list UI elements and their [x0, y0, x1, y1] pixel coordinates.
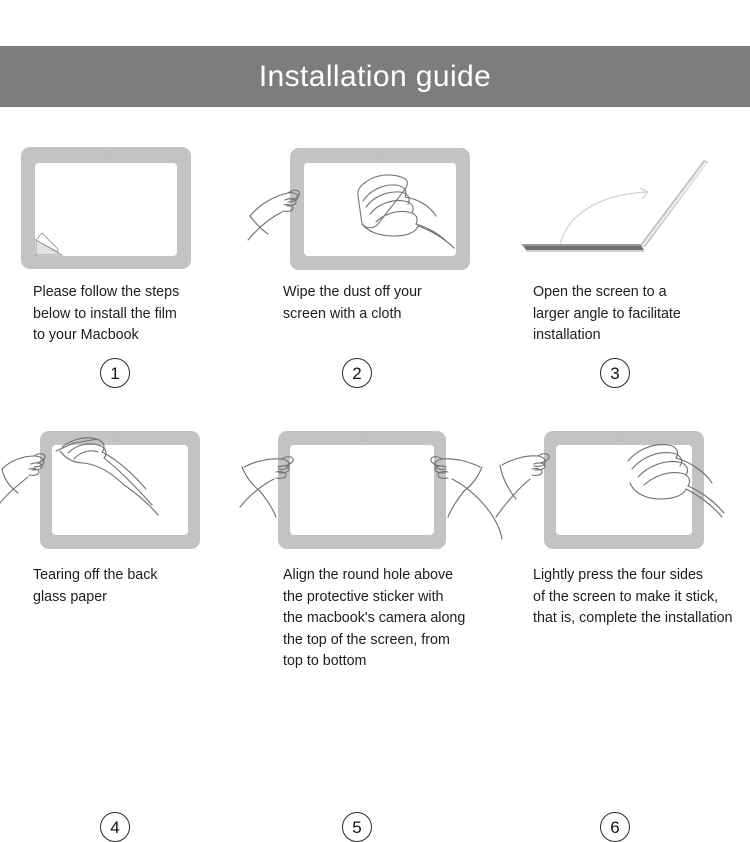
step-number-4: 4: [100, 812, 130, 842]
installation-steps-grid: Please follow the steps below to install…: [0, 132, 750, 732]
step-3-caption: Open the screen to a larger angle to fac…: [533, 282, 747, 347]
step-card-6: Lightly press the four sides of the scre…: [500, 415, 750, 698]
hands-tearing-back-paper-icon: [0, 425, 250, 555]
step-6-illustration: [500, 425, 750, 555]
step-3-illustration: [508, 144, 750, 274]
step-6-caption: Lightly press the four sides of the scre…: [533, 565, 747, 630]
hands-pressing-screen-edges-icon: [500, 425, 750, 555]
step-2-caption: Wipe the dust off your screen with a clo…: [283, 282, 497, 325]
step-number-1: 1: [100, 358, 130, 388]
header-banner: Installation guide: [0, 46, 750, 107]
step-4-illustration: [0, 425, 250, 555]
screen-with-peeling-corner-icon: [18, 144, 218, 269]
step-number-2: 2: [342, 358, 372, 388]
step-2-illustration: [258, 144, 508, 274]
step-number-5: 5: [342, 812, 372, 842]
step-card-3: Open the screen to a larger angle to fac…: [500, 132, 750, 415]
step-card-4: Tearing off the back glass paper 4: [0, 415, 250, 698]
step-1-illustration: [18, 144, 268, 274]
step-1-caption: Please follow the steps below to install…: [33, 282, 247, 347]
step-card-1: Please follow the steps below to install…: [0, 132, 250, 415]
hands-wiping-screen-with-cloth-icon: [258, 144, 498, 272]
step-card-2: Wipe the dust off your screen with a clo…: [250, 132, 500, 415]
two-hands-aligning-film-icon: [250, 425, 500, 555]
page-title: Installation guide: [259, 62, 491, 92]
laptop-open-angle-side-view-icon: [508, 144, 738, 272]
step-card-5: Align the round hole above the protectiv…: [250, 415, 500, 698]
step-number-3: 3: [600, 358, 630, 388]
step-5-illustration: [250, 425, 500, 555]
step-4-caption: Tearing off the back glass paper: [33, 565, 247, 608]
step-5-caption: Align the round hole above the protectiv…: [283, 565, 497, 673]
step-number-6: 6: [600, 812, 630, 842]
